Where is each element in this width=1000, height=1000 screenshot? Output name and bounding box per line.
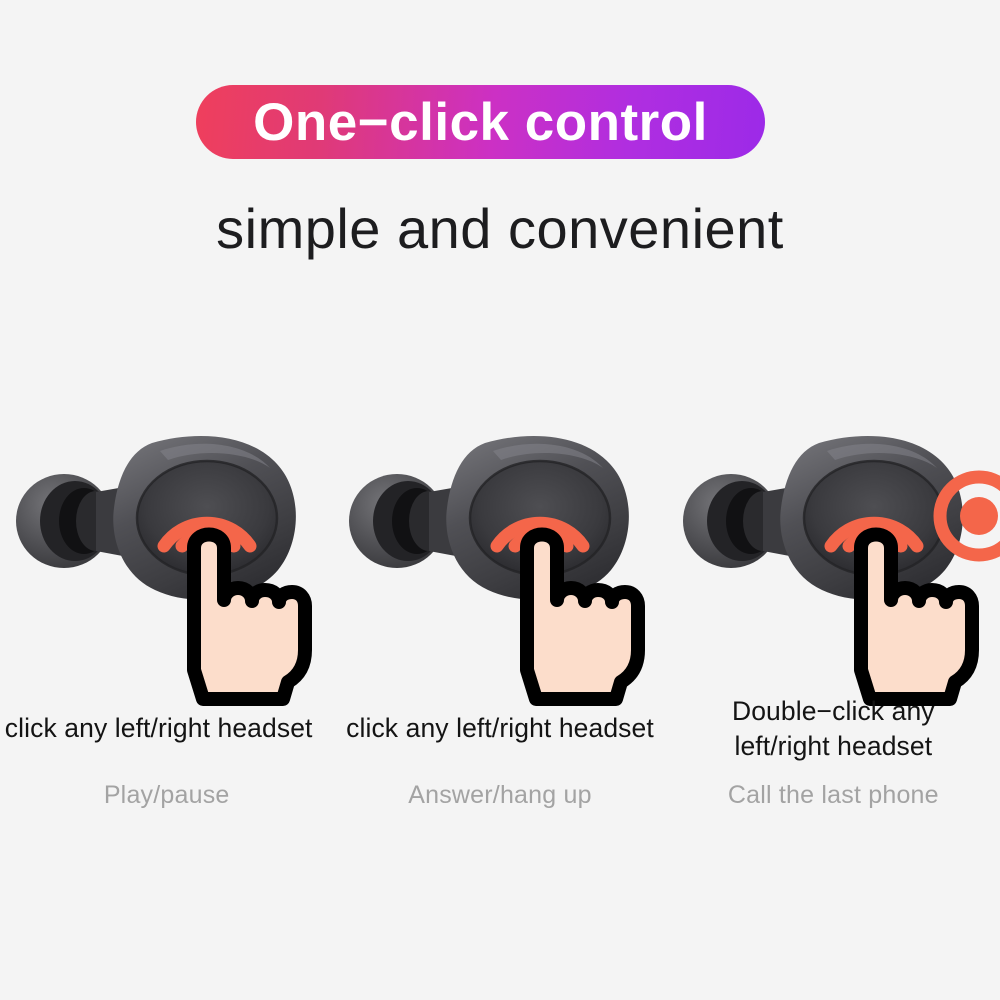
page-subtitle: simple and convenient: [0, 198, 1000, 261]
feature-panel-call-last-phone: Double−click any left/right headset Call…: [667, 410, 1000, 830]
panel-gesture-text: click any left/right headset: [0, 711, 325, 746]
feature-panels: click any left/right headset Play/pause: [0, 410, 1000, 830]
page-title: One−click control: [253, 96, 708, 149]
panel-action-text: Answer/hang up: [333, 780, 666, 810]
panel-action-text: Call the last phone: [667, 780, 1000, 810]
panel-action-text: Play/pause: [0, 780, 333, 810]
panel-gesture-text: click any left/right headset: [333, 711, 666, 746]
gesture-line: click any left/right headset: [5, 713, 313, 743]
gesture-line: Double−click any: [732, 696, 935, 726]
page-title-pill: One−click control: [196, 85, 765, 159]
feature-panel-answer-hangup: click any left/right headset Answer/hang…: [333, 410, 666, 830]
earbud-single-tap-icon: [0, 410, 333, 700]
panel-gesture-text: Double−click any left/right headset: [667, 694, 1000, 764]
gesture-line: click any left/right headset: [346, 713, 654, 743]
earbud-single-tap-icon: [333, 410, 666, 700]
feature-panel-play-pause: click any left/right headset Play/pause: [0, 410, 333, 830]
earbud-double-tap-icon: [667, 410, 1000, 700]
gesture-line: left/right headset: [734, 731, 932, 761]
